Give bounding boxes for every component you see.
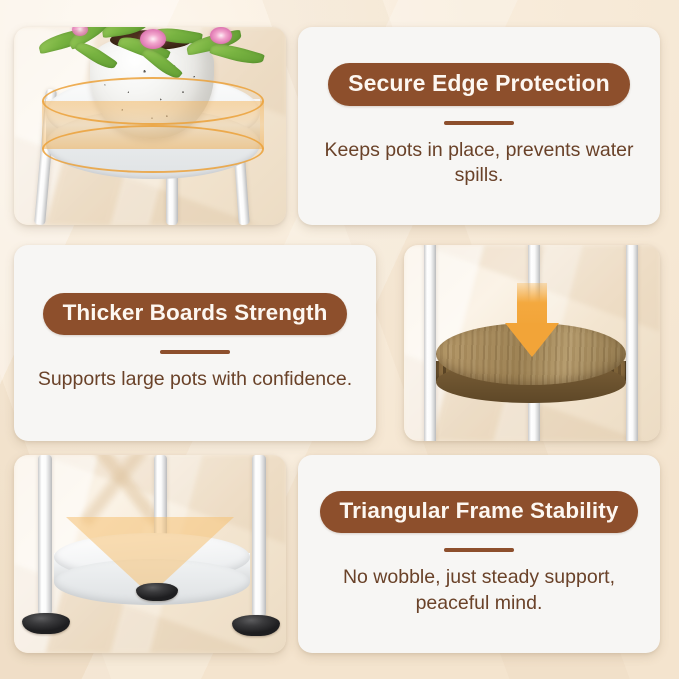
- plant-flower: [210, 27, 232, 44]
- stand-leg-left: [424, 245, 436, 441]
- stand-foot-left: [22, 613, 70, 634]
- load-arrow-icon: [505, 283, 559, 355]
- heading-triangular-frame: Triangular Frame Stability: [320, 491, 639, 533]
- description-secure-edge: Keeps pots in place, prevents water spil…: [319, 138, 639, 189]
- heading-thicker-boards: Thicker Boards Strength: [43, 293, 348, 335]
- photo-triangular-frame: [14, 455, 286, 653]
- feature-grid: Secure Edge Protection Keeps pots in pla…: [0, 0, 679, 679]
- heading-secure-edge: Secure Edge Protection: [328, 63, 630, 106]
- arrow-shaft: [517, 283, 547, 327]
- photo-secure-edge: [14, 27, 286, 225]
- divider-rule: [160, 350, 230, 354]
- plant-flower: [140, 29, 166, 49]
- stand-foot-center: [136, 583, 178, 601]
- card-triangular-frame: Triangular Frame Stability No wobble, ju…: [298, 455, 660, 653]
- divider-rule: [444, 121, 514, 125]
- arrow-head: [505, 323, 559, 357]
- stand-leg-right: [252, 455, 266, 617]
- card-thicker-boards: Thicker Boards Strength Supports large p…: [14, 245, 376, 441]
- description-triangular-frame: No wobble, just steady support, peaceful…: [319, 565, 639, 616]
- stand-leg-right: [626, 245, 638, 441]
- edge-highlight-ring-bottom: [42, 125, 264, 173]
- photo-thicker-boards: [404, 245, 660, 441]
- description-thicker-boards: Supports large pots with confidence.: [38, 367, 352, 393]
- divider-rule: [444, 548, 514, 552]
- edge-highlight-ring-top: [42, 77, 264, 125]
- card-secure-edge: Secure Edge Protection Keeps pots in pla…: [298, 27, 660, 225]
- stand-leg-left: [38, 455, 52, 615]
- stand-foot-right: [232, 615, 280, 636]
